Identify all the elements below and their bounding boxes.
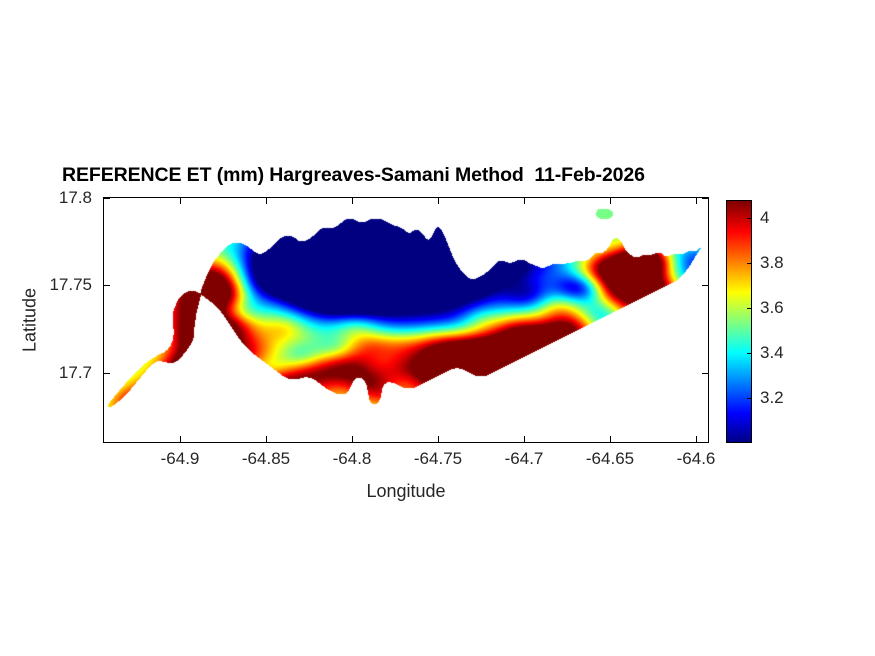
- ytick-label: 17.8: [59, 188, 92, 208]
- xtick-mark: [696, 436, 697, 443]
- reference-et-heatmap[interactable]: [104, 198, 709, 443]
- colorbar-tick-mark: [747, 263, 752, 264]
- ytick-mark: [702, 198, 709, 199]
- xtick-mark: [524, 197, 525, 204]
- xtick-mark: [524, 436, 525, 443]
- ytick-mark: [702, 373, 709, 374]
- ytick-mark: [103, 198, 110, 199]
- y-axis-label: Latitude: [20, 288, 41, 352]
- xtick-mark: [180, 197, 181, 204]
- ytick-label: 17.7: [59, 363, 92, 383]
- colorbar-tick-mark: [747, 308, 752, 309]
- ytick-label: 17.75: [49, 275, 92, 295]
- colorbar-tick-mark: [747, 398, 752, 399]
- colorbar-tick-label: 3.8: [760, 253, 784, 273]
- colorbar-tick-mark: [747, 218, 752, 219]
- xtick-label: -64.9: [161, 449, 200, 469]
- colorbar-tick-label: 3.4: [760, 343, 784, 363]
- xtick-label: -64.6: [677, 449, 716, 469]
- ytick-mark: [702, 285, 709, 286]
- x-axis-label: Longitude: [366, 481, 445, 502]
- figure-canvas: REFERENCE ET (mm) Hargreaves-Samani Meth…: [0, 0, 875, 656]
- map-axes[interactable]: [103, 197, 709, 443]
- colorbar-tick-label: 3.2: [760, 388, 784, 408]
- xtick-label: -64.75: [414, 449, 462, 469]
- colorbar-tick-label: 4: [760, 208, 769, 228]
- xtick-mark: [266, 197, 267, 204]
- colorbar-tick-mark: [747, 353, 752, 354]
- xtick-mark: [180, 436, 181, 443]
- colorbar-gradient: [727, 201, 752, 443]
- xtick-mark: [266, 436, 267, 443]
- xtick-mark: [438, 436, 439, 443]
- ytick-mark: [103, 373, 110, 374]
- colorbar[interactable]: [726, 200, 752, 443]
- xtick-mark: [696, 197, 697, 204]
- xtick-mark: [610, 197, 611, 204]
- xtick-mark: [352, 436, 353, 443]
- xtick-mark: [610, 436, 611, 443]
- xtick-mark: [438, 197, 439, 204]
- page-title: REFERENCE ET (mm) Hargreaves-Samani Meth…: [62, 164, 645, 187]
- xtick-mark: [352, 197, 353, 204]
- xtick-label: -64.8: [333, 449, 372, 469]
- colorbar-tick-label: 3.6: [760, 298, 784, 318]
- xtick-label: -64.7: [505, 449, 544, 469]
- xtick-label: -64.85: [242, 449, 290, 469]
- ytick-mark: [103, 285, 110, 286]
- xtick-label: -64.65: [586, 449, 634, 469]
